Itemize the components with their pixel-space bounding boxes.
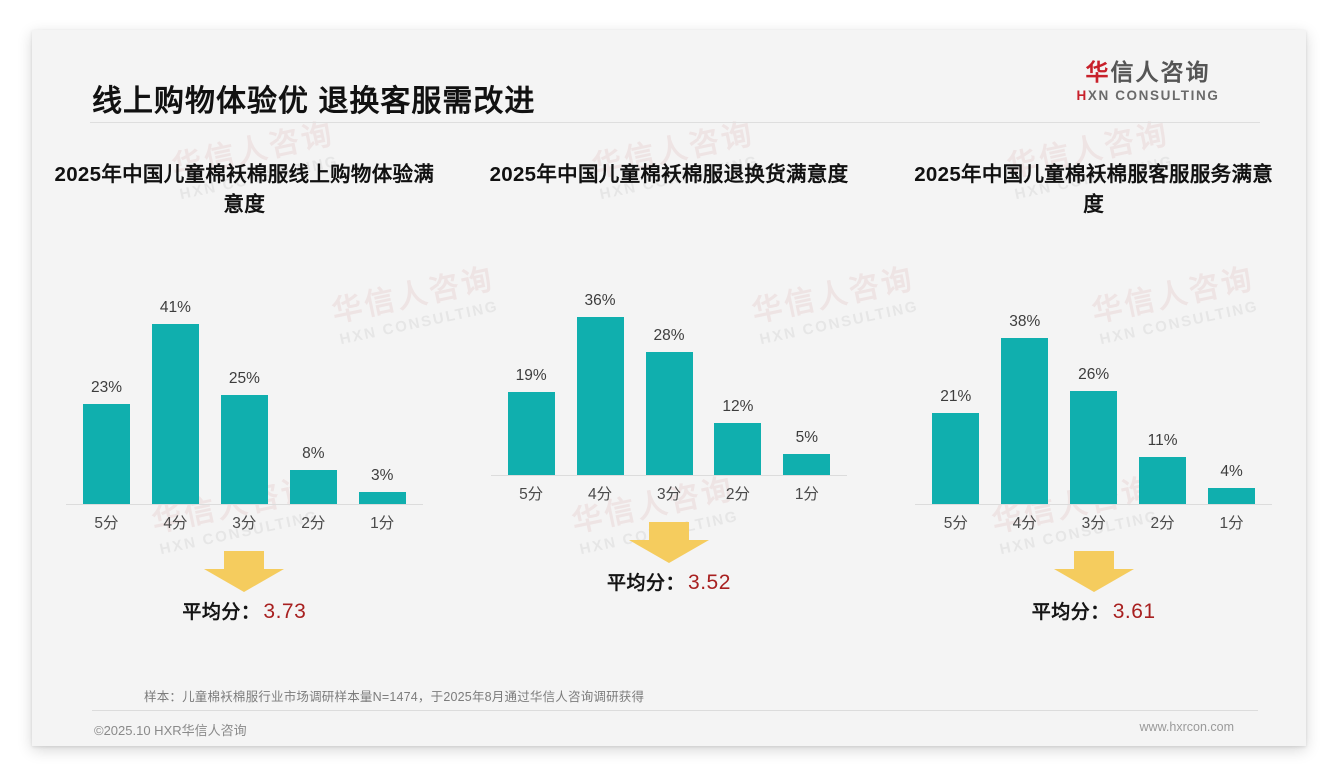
bar-item: 4%: [1197, 257, 1266, 505]
bar[interactable]: [932, 413, 979, 506]
bar[interactable]: [1139, 457, 1186, 506]
average-label: 平均分：: [1032, 602, 1110, 623]
x-tick-label: 2分: [279, 509, 348, 541]
bar-item: 8%: [279, 257, 348, 505]
down-arrow-icon: [627, 520, 711, 569]
bar-item: 21%: [921, 257, 990, 505]
website-url[interactable]: www.hxrcon.com: [1140, 720, 1234, 734]
x-tick-label: 2分: [1128, 509, 1197, 541]
logo-chinese-rest: 信人咨询: [1111, 59, 1211, 85]
x-axis-labels: 5分 4分 3分 2分 1分: [72, 509, 417, 541]
logo-chinese: 华信人咨询: [1048, 60, 1248, 85]
bar-value-label: 38%: [1009, 313, 1040, 331]
bar[interactable]: [1001, 338, 1048, 506]
page-title: 线上购物体验优 退换客服需改进: [92, 76, 535, 120]
x-tick-label: 3分: [210, 509, 279, 541]
bar[interactable]: [359, 492, 406, 505]
average-value: 3.61: [1113, 600, 1156, 623]
x-tick-label: 5分: [921, 509, 990, 541]
x-axis-labels: 5分 4分 3分 2分 1分: [497, 480, 842, 512]
footer-divider: [92, 710, 1258, 711]
bar-value-label: 28%: [653, 327, 684, 345]
bar-value-label: 3%: [371, 467, 393, 485]
slide-card: 华信人咨询 HXN CONSULTING 华信人咨询 HXN CONSULTIN…: [32, 30, 1306, 746]
bar-item: 28%: [635, 228, 704, 476]
bar-item: 23%: [72, 257, 141, 505]
slide-footer: ©2025.10 HXR华信人咨询 www.hxrcon.com: [32, 716, 1306, 746]
x-tick-label: 4分: [566, 480, 635, 512]
bar-value-label: 4%: [1220, 463, 1242, 481]
x-axis-line: [915, 504, 1272, 505]
chart-title-3: 2025年中国儿童棉袄棉服客服服务满意度: [905, 160, 1282, 219]
bar[interactable]: [83, 404, 130, 506]
chart-panel-3: 2025年中国儿童棉袄棉服客服服务满意度 21% 38% 26%: [881, 138, 1306, 639]
x-tick-label: 4分: [990, 509, 1059, 541]
average-score-1: 平均分：3.73: [46, 597, 443, 624]
header-divider: [90, 122, 1260, 123]
bar[interactable]: [221, 395, 268, 505]
bar-item: 38%: [990, 257, 1059, 505]
bar[interactable]: [1070, 391, 1117, 506]
bar-item: 11%: [1128, 257, 1197, 505]
chart-title-1: 2025年中国儿童棉袄棉服线上购物体验满意度: [48, 160, 441, 219]
bar-item: 36%: [566, 228, 635, 476]
logo-chinese-red: 华: [1086, 59, 1111, 85]
slide-header: 线上购物体验优 退换客服需改进 华信人咨询 HXN CONSULTING: [32, 30, 1306, 122]
bar[interactable]: [1208, 488, 1255, 506]
bar[interactable]: [783, 454, 830, 476]
sample-footnote: 样本：儿童棉袄棉服行业市场调研样本量N=1474，于2025年8月通过华信人咨询…: [144, 686, 644, 705]
bar[interactable]: [508, 392, 555, 476]
average-value: 3.52: [688, 571, 731, 594]
bar-item: 5%: [772, 228, 841, 476]
copyright-text: ©2025.10 HXR华信人咨询: [94, 720, 247, 739]
x-tick-label: 3分: [1059, 509, 1128, 541]
bar[interactable]: [152, 324, 199, 505]
bar-value-label: 5%: [796, 429, 818, 447]
x-axis-labels: 5分 4分 3分 2分 1分: [921, 509, 1266, 541]
average-block-3: 平均分：3.61: [895, 549, 1292, 639]
bar[interactable]: [714, 423, 761, 476]
average-block-1: 平均分：3.73: [46, 549, 443, 639]
bar-value-label: 11%: [1148, 432, 1178, 450]
bar-value-label: 8%: [302, 445, 324, 463]
x-tick-label: 5分: [497, 480, 566, 512]
x-tick-label: 3分: [635, 480, 704, 512]
bar-value-label: 36%: [585, 292, 616, 310]
chart-plot-2: 19% 36% 28% 12%: [497, 212, 842, 512]
bar-item: 12%: [703, 228, 772, 476]
average-score-2: 平均分：3.52: [471, 568, 868, 595]
chart-title-2: 2025年中国儿童棉袄棉服退换货满意度: [481, 160, 858, 190]
x-axis-line: [66, 504, 423, 505]
x-axis-line: [491, 475, 848, 476]
x-tick-label: 1分: [1197, 509, 1266, 541]
bar-value-label: 12%: [722, 398, 753, 416]
x-tick-label: 5分: [72, 509, 141, 541]
logo-english-red: H: [1077, 88, 1088, 103]
x-tick-label: 1分: [348, 509, 417, 541]
bar-value-label: 41%: [160, 299, 191, 317]
logo-english: HXN CONSULTING: [1048, 88, 1248, 103]
bar-group-2: 19% 36% 28% 12%: [497, 228, 842, 476]
bar-value-label: 25%: [229, 370, 260, 388]
bar-item: 41%: [141, 257, 210, 505]
down-arrow-icon: [1052, 549, 1136, 598]
x-tick-label: 2分: [703, 480, 772, 512]
average-value: 3.73: [263, 600, 306, 623]
bar[interactable]: [290, 470, 337, 505]
chart-panel-1: 2025年中国儿童棉袄棉服线上购物体验满意度 23% 41% 25%: [32, 138, 457, 639]
down-arrow-icon: [202, 549, 286, 598]
bar-item: 25%: [210, 257, 279, 505]
average-label: 平均分：: [182, 602, 260, 623]
bar-value-label: 26%: [1078, 366, 1109, 384]
charts-row: 2025年中国儿童棉袄棉服线上购物体验满意度 23% 41% 25%: [32, 138, 1306, 639]
company-logo: 华信人咨询 HXN CONSULTING: [1048, 60, 1248, 103]
x-tick-label: 4分: [141, 509, 210, 541]
average-score-3: 平均分：3.61: [895, 597, 1292, 624]
average-block-2: 平均分：3.52: [471, 520, 868, 610]
bar-item: 3%: [348, 257, 417, 505]
chart-panel-2: 2025年中国儿童棉袄棉服退换货满意度 19% 36% 28%: [457, 138, 882, 639]
bar[interactable]: [577, 317, 624, 476]
bar-value-label: 23%: [91, 379, 122, 397]
chart-plot-1: 23% 41% 25% 8%: [72, 241, 417, 541]
bar-item: 26%: [1059, 257, 1128, 505]
bar-value-label: 19%: [516, 367, 547, 385]
bar-group-3: 21% 38% 26% 11%: [921, 257, 1266, 505]
bar-group-1: 23% 41% 25% 8%: [72, 257, 417, 505]
average-label: 平均分：: [607, 573, 685, 594]
bar-value-label: 21%: [940, 388, 971, 406]
chart-plot-3: 21% 38% 26% 11%: [921, 241, 1266, 541]
bar-item: 19%: [497, 228, 566, 476]
logo-english-rest: XN CONSULTING: [1088, 88, 1220, 103]
bar[interactable]: [646, 352, 693, 476]
x-tick-label: 1分: [772, 480, 841, 512]
